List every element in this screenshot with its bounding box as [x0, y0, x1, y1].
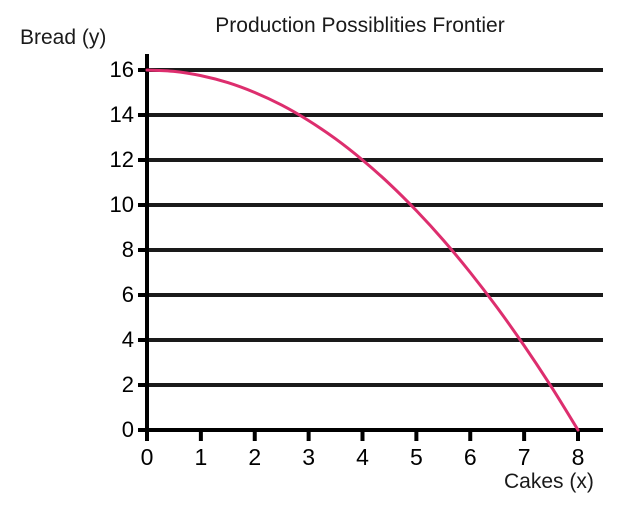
y-tick-label-12: 12 [90, 149, 134, 171]
x-tick-label-3: 3 [294, 446, 324, 469]
x-tick-label-0: 0 [132, 446, 162, 469]
x-tick-label-8: 8 [563, 446, 593, 469]
x-tick-label-7: 7 [509, 446, 539, 469]
axes [147, 54, 603, 440]
x-tick-label-1: 1 [186, 446, 216, 469]
y-tick-label-16: 16 [90, 59, 134, 81]
y-tick-label-4: 4 [90, 329, 134, 351]
chart-container: Production Possiblities Frontier Bread (… [0, 0, 636, 513]
y-tick-label-2: 2 [90, 374, 134, 396]
y-tick-label-0: 0 [90, 419, 134, 441]
x-tick-label-4: 4 [348, 446, 378, 469]
x-tick-label-2: 2 [240, 446, 270, 469]
y-tick-label-14: 14 [90, 104, 134, 126]
x-tick-label-5: 5 [401, 446, 431, 469]
gridlines [147, 70, 603, 430]
y-tick-label-6: 6 [90, 284, 134, 306]
x-tick-label-6: 6 [455, 446, 485, 469]
y-tick-label-10: 10 [90, 194, 134, 216]
y-tick-label-8: 8 [90, 239, 134, 261]
